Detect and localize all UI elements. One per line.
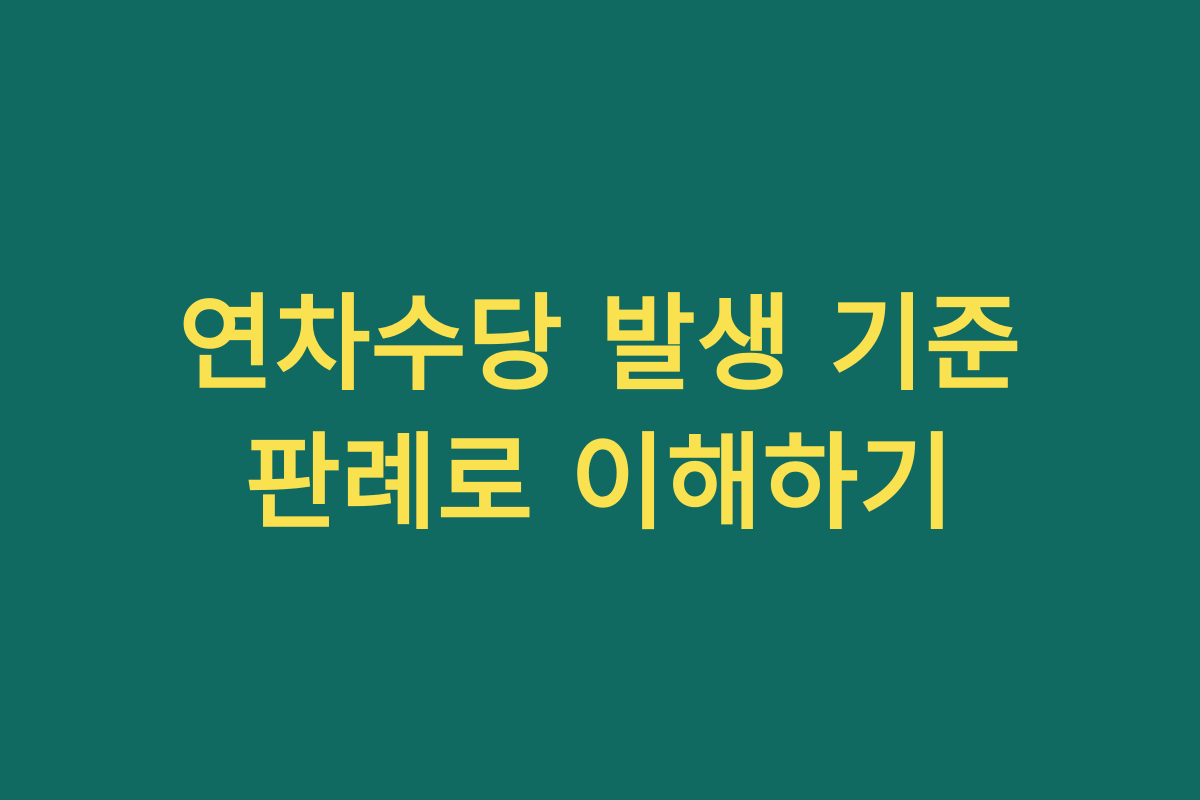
thumbnail-canvas: 연차수당 발생 기준 판례로 이해하기	[0, 0, 1200, 800]
page-title: 연차수당 발생 기준 판례로 이해하기	[75, 275, 1125, 554]
headline-block: 연차수당 발생 기준 판례로 이해하기	[65, 275, 1135, 554]
